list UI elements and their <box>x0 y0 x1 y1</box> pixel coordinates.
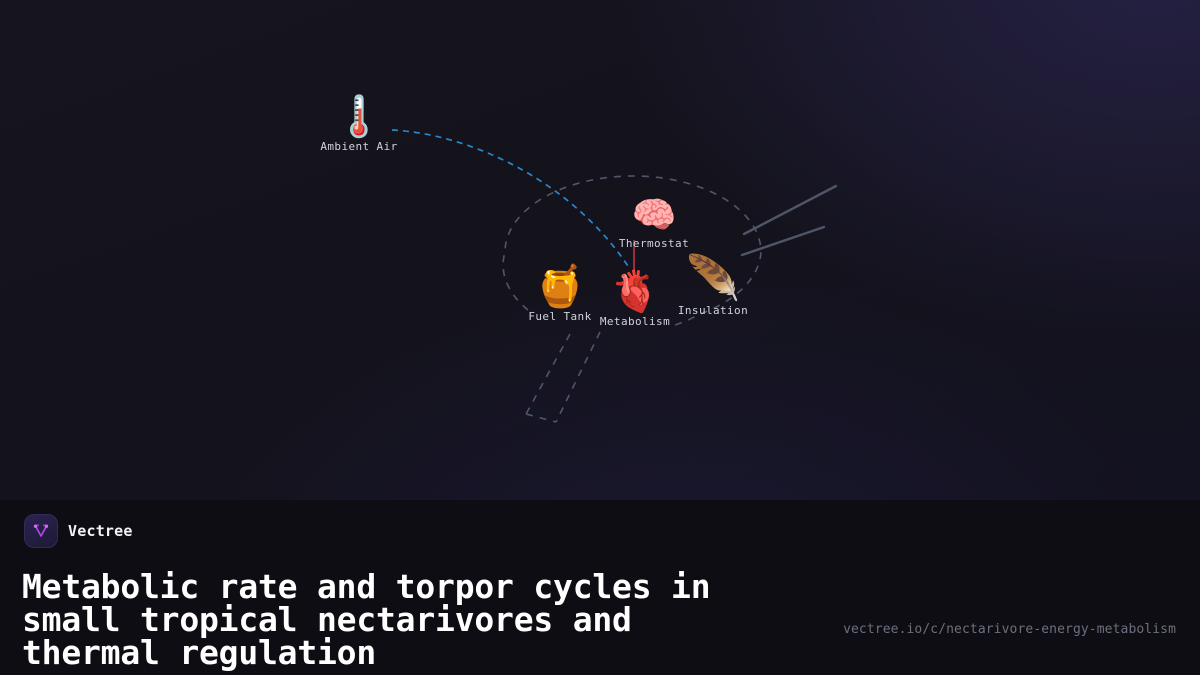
feather-icon: 🪶 <box>653 257 773 301</box>
cluster-tail-left-edge <box>526 334 570 414</box>
cluster-tail-cap <box>526 414 556 422</box>
graph-node-label: Insulation <box>653 305 773 316</box>
vectree-v-logo-icon <box>24 514 58 548</box>
brand-name: Vectree <box>68 522 133 540</box>
graph-node-insulation[interactable]: 🪶 Insulation <box>653 257 773 316</box>
graph-node-label: Thermostat <box>594 238 714 249</box>
cluster-tail-right-edge <box>556 332 600 422</box>
screenshot-root: 🌡️ Ambient Air 🧠 Thermostat 🍯 Fuel Tank … <box>0 0 1200 675</box>
graph-node-label: Metabolism <box>575 316 695 327</box>
footer-panel: Vectree Metabolic rate and torpor cycles… <box>0 500 1200 675</box>
concept-graph-canvas[interactable]: 🌡️ Ambient Air 🧠 Thermostat 🍯 Fuel Tank … <box>0 0 1200 500</box>
graph-node-label: Ambient Air <box>299 141 419 152</box>
graph-node-ambient-air[interactable]: 🌡️ Ambient Air <box>299 97 419 152</box>
permalink-url[interactable]: vectree.io/c/nectarivore-energy-metaboli… <box>843 622 1176 637</box>
edge-cluster-ray-lower <box>742 227 824 255</box>
page-title-line-3: thermal regulation <box>22 636 822 669</box>
page-title-line-2: small tropical nectarivores and <box>22 603 822 636</box>
thermometer-icon: 🌡️ <box>299 97 419 137</box>
page-title-line-1: Metabolic rate and torpor cycles in <box>22 570 822 603</box>
graph-edges-layer <box>0 0 1200 500</box>
page-title: Metabolic rate and torpor cycles in smal… <box>22 570 822 669</box>
brand-lockup[interactable]: Vectree <box>24 514 133 548</box>
brain-icon: 🧠 <box>594 198 714 234</box>
edge-ambient-to-thermostat <box>392 130 628 266</box>
graph-node-thermostat[interactable]: 🧠 Thermostat <box>594 198 714 249</box>
